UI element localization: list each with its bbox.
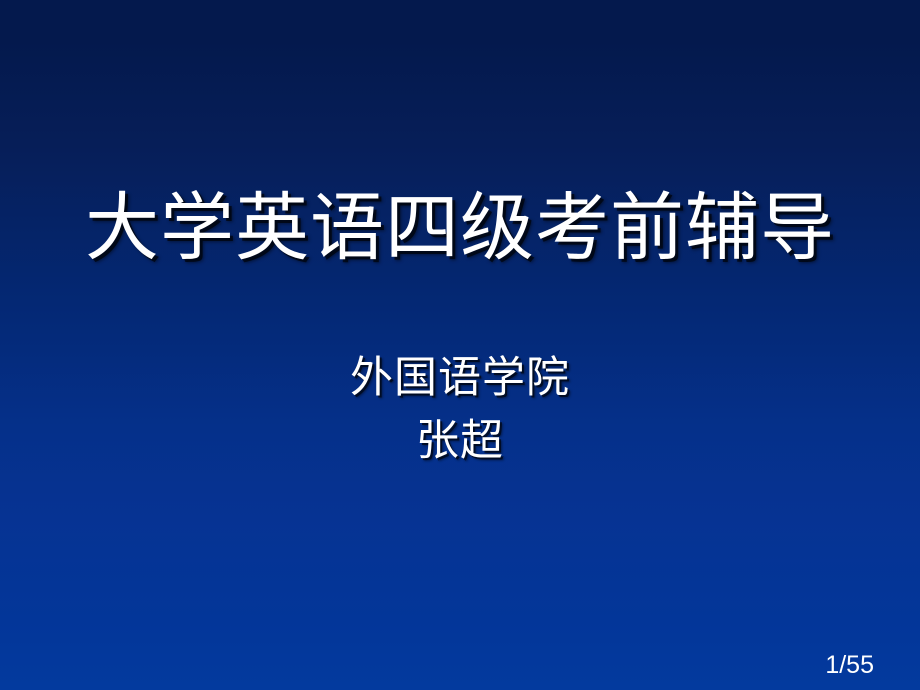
subtitle-line-author: 张超 (0, 411, 920, 474)
page-number-indicator: 1/55 (825, 653, 874, 678)
title-placeholder: 大学英语四级考前辅导 (0, 190, 920, 270)
page-title: 大学英语四级考前辅导 (85, 190, 835, 270)
subtitle-line-organization: 外国语学院 (0, 348, 920, 411)
presentation-slide: 大学英语四级考前辅导 外国语学院 张超 1/55 (0, 0, 920, 690)
subtitle-placeholder: 外国语学院 张超 (0, 348, 920, 474)
